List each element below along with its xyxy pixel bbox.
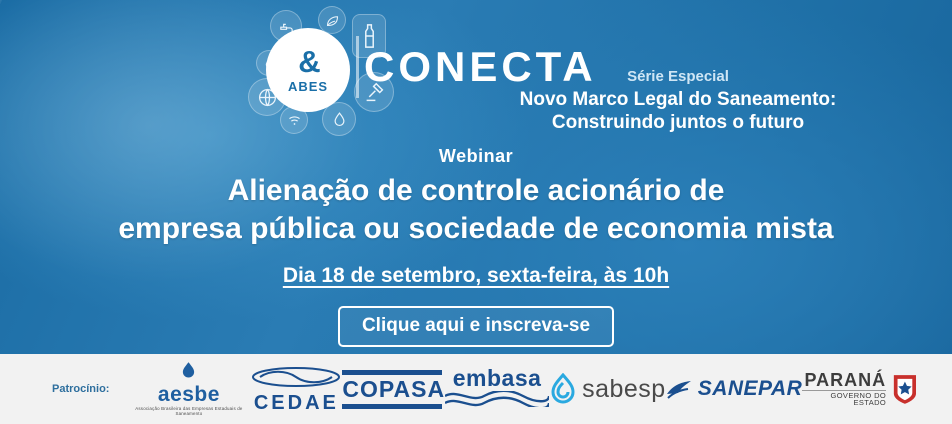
title-line-1: Alienação de controle acionário de xyxy=(0,172,952,210)
webinar-label: Webinar xyxy=(0,146,952,167)
cedae-arc-icon xyxy=(250,366,342,388)
sponsor-copasa[interactable]: COPASA xyxy=(342,361,445,417)
cta-container: Clique aqui e inscreva-se xyxy=(0,306,952,347)
aesbe-subtitle: Associação Brasileira das Empresas Estad… xyxy=(127,407,250,416)
sponsor-logos: aesbe Associação Brasileira das Empresas… xyxy=(127,361,952,417)
event-date-text: Dia 18 de setembro, sexta-feira, às 10h xyxy=(283,264,669,287)
sponsor-parana[interactable]: PARANÁ GOVERNO DO ESTADO xyxy=(802,361,918,417)
marco-line-2: Construindo juntos o futuro xyxy=(404,111,952,134)
parana-shield-icon xyxy=(892,372,918,406)
sanepar-name: SANEPAR xyxy=(698,377,803,401)
sponsor-aesbe[interactable]: aesbe Associação Brasileira das Empresas… xyxy=(127,361,250,417)
page-title: Alienação de controle acionário de empre… xyxy=(0,172,952,249)
embasa-waves-icon xyxy=(445,391,549,407)
register-button[interactable]: Clique aqui e inscreva-se xyxy=(338,306,614,347)
logo-divider xyxy=(356,36,359,98)
aesbe-name: aesbe xyxy=(127,384,250,405)
serie-especial-label: Série Especial xyxy=(404,68,952,85)
embasa-name: embasa xyxy=(445,367,549,390)
aesbe-drop-icon xyxy=(127,362,250,384)
cedae-name: CEDAE xyxy=(250,393,342,413)
title-line-2: empresa pública ou sociedade de economia… xyxy=(0,210,952,248)
event-date: Dia 18 de setembro, sexta-feira, às 10h xyxy=(0,264,952,288)
sponsor-sanepar[interactable]: SANEPAR xyxy=(666,361,803,417)
sponsor-cedae[interactable]: CEDAE xyxy=(250,361,342,417)
sponsor-embasa[interactable]: embasa xyxy=(445,361,549,417)
parana-name: PARANÁ xyxy=(802,371,886,390)
copasa-name: COPASA xyxy=(342,378,445,401)
sponsor-sabesp[interactable]: sabesp xyxy=(549,361,666,417)
webinar-banner: & ABES CONECTA Série Especial Novo Marco… xyxy=(0,0,952,424)
copasa-bottom-bar xyxy=(342,404,442,409)
sponsor-bar: Patrocínio: aesbe Associação Brasileira … xyxy=(0,354,952,424)
sanepar-swoosh-icon xyxy=(666,378,692,400)
marco-line-1: Novo Marco Legal do Saneamento: xyxy=(404,88,952,111)
sabesp-mark-icon xyxy=(549,373,577,405)
abes-mark-glyph: & xyxy=(298,46,317,77)
copasa-top-bar xyxy=(342,370,442,375)
abes-logo: & ABES xyxy=(266,28,350,112)
sponsor-label: Patrocínio: xyxy=(52,383,109,395)
sabesp-name: sabesp xyxy=(582,375,666,404)
marco-legal-heading: Novo Marco Legal do Saneamento: Construi… xyxy=(404,88,952,134)
parana-subtitle: GOVERNO DO ESTADO xyxy=(802,390,886,408)
abes-logo-text: ABES xyxy=(288,79,328,94)
